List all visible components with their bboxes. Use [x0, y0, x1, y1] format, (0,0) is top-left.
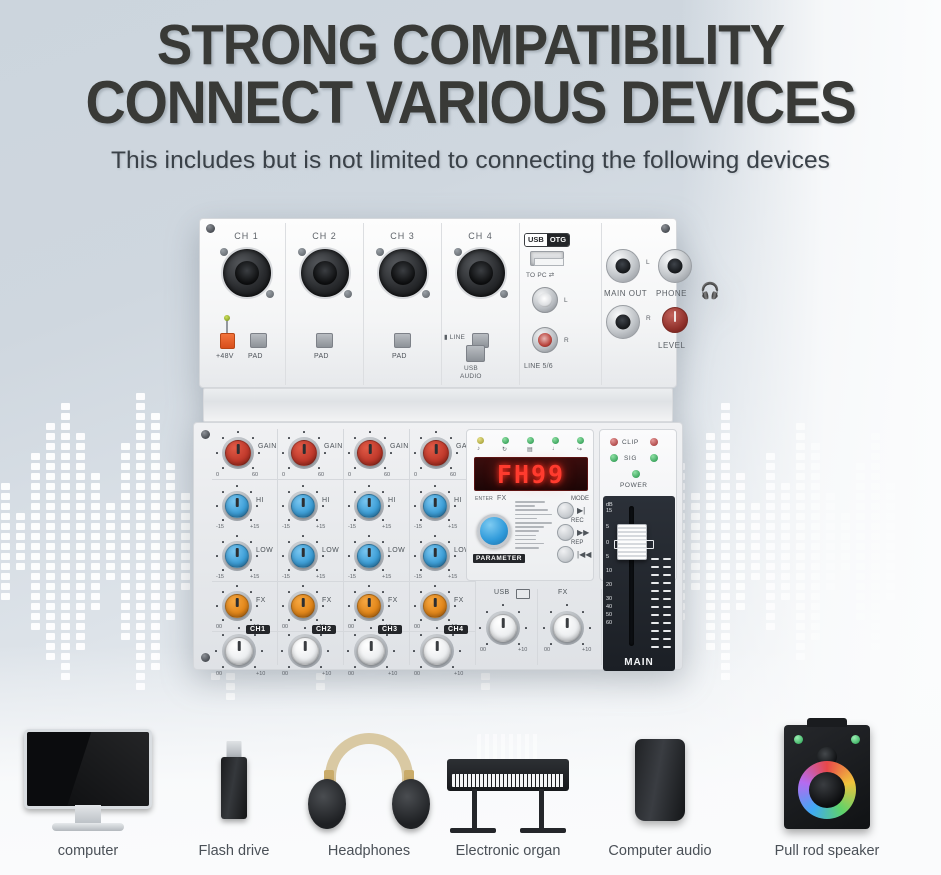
pa-speaker-woofer	[809, 772, 845, 808]
equalizer-dot	[121, 503, 130, 510]
level-knob-ch1[interactable]	[225, 637, 253, 665]
equalizer-dot	[121, 473, 130, 480]
equalizer-dot	[151, 413, 160, 420]
knob-scale-dot	[459, 650, 461, 652]
equalizer-dot	[136, 493, 145, 500]
equalizer-dot	[46, 563, 55, 570]
db-tick-label: 30	[606, 596, 612, 602]
knob-scale-dot	[566, 604, 568, 606]
meter-segment	[651, 558, 659, 560]
input-channel-2: CH 2PAD	[286, 223, 364, 385]
knob-scale-dot	[382, 519, 384, 521]
knob-scale-dot	[502, 604, 504, 606]
channel-label: CH 2	[286, 231, 363, 241]
knob-scale-dot	[420, 541, 422, 543]
knob-scale-dot	[222, 491, 224, 493]
channel-tag-1: CH1	[246, 625, 270, 634]
knob-scale-dot	[420, 634, 422, 636]
equalizer-dot	[121, 463, 130, 470]
knob-scale-dot	[216, 555, 218, 557]
mixer-channel-strip-2: GAIN060HI-15+15LOW-15+15FX00+10CH200+10	[278, 429, 344, 665]
stand-foot-left	[450, 828, 496, 833]
mode-indicator-icon-2: ↻	[502, 446, 507, 453]
equalizer-dot	[61, 513, 70, 520]
fx-knob-label: FX	[558, 589, 568, 596]
knob-scale-dot	[448, 519, 450, 521]
knob-scale-dot	[382, 491, 384, 493]
knob-scale-dot	[420, 467, 422, 469]
equalizer-dot	[136, 613, 145, 620]
hi-label: HI	[454, 497, 462, 504]
usb-knob[interactable]	[489, 614, 517, 642]
phone-level-knob[interactable]	[662, 307, 688, 333]
equalizer-dot	[106, 523, 115, 530]
audio-mixer-product-image: CH 1+48VPADCH 2PADCH 3PADCH 4PAD USBOTGT…	[193, 210, 683, 685]
db-tick-label: 15	[606, 508, 612, 514]
keyboard-keys	[452, 774, 564, 787]
equalizer-dot	[166, 473, 175, 480]
mode-indicator-led-2	[502, 437, 509, 444]
knob-scale-dot	[384, 437, 386, 439]
equalizer-dot	[31, 603, 40, 610]
knob-scale-dot	[486, 643, 488, 645]
knob-max-label: 60	[450, 472, 456, 478]
equalizer-dot	[61, 553, 70, 560]
equalizer-dot	[46, 533, 55, 540]
phone-jack[interactable]	[658, 249, 692, 283]
equalizer-dot	[1, 483, 10, 490]
equalizer-dot	[61, 493, 70, 500]
jack-lug	[500, 290, 508, 298]
device-item-computer-audio: Computer audio	[578, 723, 742, 875]
gain-knob-ch1[interactable]	[225, 440, 251, 466]
mode-indicator-icon-1: ♪	[477, 446, 480, 452]
equalizer-dot	[151, 613, 160, 620]
knob-scale-dot	[550, 643, 552, 645]
equalizer-dot	[136, 533, 145, 540]
level-max-label: +10	[454, 671, 463, 677]
computer-icon	[516, 589, 530, 599]
hi-knob-ch1[interactable]	[225, 494, 249, 518]
equalizer-dot	[136, 563, 145, 570]
transport-button-rec[interactable]	[557, 524, 574, 541]
knob-min-label: 00	[216, 624, 222, 630]
equalizer-dot	[151, 523, 160, 530]
parameter-knob[interactable]	[477, 514, 511, 548]
equalizer-dot	[136, 453, 145, 460]
transport-label-rep: REP	[571, 540, 583, 546]
hi-knob-ch2[interactable]	[291, 494, 315, 518]
knob-scale-dot	[250, 619, 252, 621]
equalizer-dot	[76, 443, 85, 450]
equalizer-dot	[16, 553, 25, 560]
level-min-label: 00	[216, 671, 222, 677]
equalizer-dot	[61, 633, 70, 640]
knob-max-label: +10	[582, 647, 591, 653]
rca-jack-left[interactable]	[532, 287, 558, 313]
equalizer-dot	[151, 483, 160, 490]
section-divider	[278, 581, 344, 582]
rca-channel-label: R	[564, 337, 569, 344]
equalizer-dot	[151, 493, 160, 500]
device-item-computer: computer	[8, 723, 168, 875]
phantom-power-switch[interactable]	[220, 333, 235, 349]
equalizer-dot	[76, 563, 85, 570]
equalizer-dot	[31, 583, 40, 590]
equalizer-dot	[1, 543, 10, 550]
knob-scale-dot	[254, 634, 256, 636]
knob-scale-dot	[436, 627, 438, 629]
meter-segment	[663, 614, 671, 616]
equalizer-dot	[61, 523, 70, 530]
equalizer-dot	[61, 413, 70, 420]
equalizer-dot	[151, 553, 160, 560]
main-fader-well: dB15505102030405060 MAIN	[603, 496, 675, 671]
knob-scale-dot	[250, 491, 252, 493]
knob-scale-dot	[414, 605, 416, 607]
equalizer-dot	[61, 473, 70, 480]
equalizer-dot	[91, 513, 100, 520]
gain-label: GAIN	[258, 443, 277, 450]
low-knob-ch3[interactable]	[357, 544, 381, 568]
knob-scale-dot	[388, 605, 390, 607]
usb-knob-label: USB	[494, 589, 510, 596]
equalizer-dot	[151, 513, 160, 520]
knob-scale-dot	[354, 666, 356, 668]
knob-scale-dot	[288, 541, 290, 543]
equalizer-dot	[166, 593, 175, 600]
equalizer-dot	[106, 543, 115, 550]
equalizer-dot	[136, 433, 145, 440]
knob-scale-dot	[316, 541, 318, 543]
equalizer-dot	[61, 433, 70, 440]
pa-speaker-handle	[807, 718, 847, 727]
knob-scale-dot	[316, 569, 318, 571]
equalizer-dot	[136, 423, 145, 430]
usb-drive-icon	[168, 723, 300, 843]
input-channel-3: CH 3PAD	[364, 223, 442, 385]
equalizer-dot	[151, 603, 160, 610]
knob-scale-dot	[348, 505, 350, 507]
equalizer-dot	[46, 433, 55, 440]
equalizer-dot	[1, 593, 10, 600]
equalizer-dot	[136, 593, 145, 600]
device-label: Flash drive	[168, 843, 300, 875]
equalizer-dot	[76, 593, 85, 600]
meter-segment	[663, 622, 671, 624]
knob-scale-dot	[368, 485, 370, 487]
equalizer-dot	[136, 623, 145, 630]
knob-scale-dot	[348, 555, 350, 557]
level-min-label: 00	[348, 671, 354, 677]
equalizer-dot	[46, 543, 55, 550]
fx-preset-entry	[515, 547, 539, 549]
gain-label: GAIN	[390, 443, 409, 450]
low-label: LOW	[388, 547, 405, 554]
gain-knob-ch2[interactable]	[291, 440, 317, 466]
equalizer-dot	[16, 543, 25, 550]
knob-max-label: +15	[316, 574, 325, 580]
meter-segment	[663, 566, 671, 568]
knob-min-label: -15	[216, 524, 224, 530]
mixer-control-panel: GAIN060HI-15+15LOW-15+15FX00+10CH100+10G…	[193, 422, 683, 670]
db-tick-label: 5	[606, 524, 609, 530]
equalizer-dot	[136, 633, 145, 640]
knob-min-label: 00	[348, 624, 354, 630]
pad-button[interactable]	[394, 333, 411, 348]
equalizer-dot	[181, 573, 190, 580]
device-label: Computer audio	[578, 843, 742, 875]
headphones-icon	[300, 723, 438, 843]
equalizer-dot	[106, 513, 115, 520]
equalizer-dot	[121, 553, 130, 560]
knob-scale-dot	[448, 569, 450, 571]
equalizer-dot	[121, 523, 130, 530]
keyboard-music-rack	[477, 734, 539, 760]
equalizer-dot	[1, 533, 10, 540]
meter-segment	[651, 574, 659, 576]
device-item-electronic-organ: Electronic organ	[438, 723, 578, 875]
knob-scale-dot	[354, 467, 356, 469]
equalizer-dot	[31, 493, 40, 500]
knob-scale-dot	[382, 569, 384, 571]
transport-label-mode: MODE	[571, 496, 589, 502]
knob-scale-dot	[222, 591, 224, 593]
main-out-jack-right[interactable]	[606, 305, 640, 339]
equalizer-dot	[136, 403, 145, 410]
usb-a-port[interactable]	[530, 251, 564, 266]
clip-led-left	[610, 438, 618, 446]
pad-label: PAD	[392, 353, 407, 360]
meter-segment	[651, 638, 659, 640]
mode-indicator-led-3	[527, 437, 534, 444]
equalizer-dot	[151, 453, 160, 460]
usb-drive-body	[221, 757, 247, 819]
gain-knob-ch3[interactable]	[357, 440, 383, 466]
equalizer-dot	[136, 523, 145, 530]
meter-segment	[663, 582, 671, 584]
knob-scale-dot	[304, 627, 306, 629]
equalizer-dot	[61, 543, 70, 550]
db-tick-label: 40	[606, 604, 612, 610]
equalizer-dot	[166, 603, 175, 610]
equalizer-dot	[46, 583, 55, 590]
equalizer-dot	[61, 483, 70, 490]
equalizer-dot	[136, 473, 145, 480]
equalizer-dot	[121, 453, 130, 460]
equalizer-dot	[61, 583, 70, 590]
equalizer-dot	[181, 543, 190, 550]
main-fader-handle[interactable]	[617, 524, 647, 560]
equalizer-dot	[166, 533, 175, 540]
pa-speaker-icon	[742, 723, 912, 843]
fx-display-module: ♪↻▤♩↪ FH99 ENTER FX PARAMETER MODE▶|REC▶…	[466, 429, 594, 581]
usb-audio-button[interactable]	[466, 345, 485, 362]
equalizer-dot	[136, 463, 145, 470]
db-tick-label: 20	[606, 582, 612, 588]
knob-scale-dot	[420, 437, 422, 439]
screw	[201, 653, 210, 662]
equalizer-dot	[166, 583, 175, 590]
equalizer-dot	[1, 573, 10, 580]
knob-scale-dot	[452, 634, 454, 636]
equalizer-dot	[181, 503, 190, 510]
gain-knob-ch4[interactable]	[423, 440, 449, 466]
db-tick-label: 60	[606, 620, 612, 626]
knob-scale-dot	[250, 569, 252, 571]
knob-scale-dot	[252, 437, 254, 439]
rca-center-pin	[538, 333, 552, 347]
pad-button[interactable]	[250, 333, 267, 348]
transport-icon-rep: |◀◀	[577, 550, 591, 559]
device-label: Pull rod speaker	[742, 843, 912, 875]
equalizer-dot	[151, 563, 160, 570]
level-knob-ch4[interactable]	[423, 637, 451, 665]
jack-lug	[422, 290, 430, 298]
xlr-combo-jack[interactable]	[299, 247, 351, 299]
xlr-combo-jack[interactable]	[455, 247, 507, 299]
fx-knob-ch1[interactable]	[225, 594, 249, 618]
knob-scale-dot	[288, 634, 290, 636]
knob-scale-dot	[222, 467, 224, 469]
equalizer-dot	[46, 623, 55, 630]
fx-label: FX	[256, 597, 266, 604]
low-knob-ch2[interactable]	[291, 544, 315, 568]
monitor-neck	[75, 805, 101, 825]
mode-indicator-icon-5: ↪	[577, 446, 582, 453]
level-knob-ch2[interactable]	[291, 637, 319, 665]
knob-scale-dot	[282, 555, 284, 557]
level-min-label: 00	[414, 671, 420, 677]
equalizer-dot	[16, 563, 25, 570]
gain-label: GAIN	[324, 443, 343, 450]
knob-scale-dot	[222, 619, 224, 621]
fx-preset-entry	[515, 535, 536, 537]
equalizer-dot	[31, 593, 40, 600]
equalizer-dot	[136, 603, 145, 610]
equalizer-dot	[76, 623, 85, 630]
equalizer-dot	[76, 513, 85, 520]
fx-knob-ch3[interactable]	[357, 594, 381, 618]
meter-segment	[663, 574, 671, 576]
fx-label: FX	[497, 495, 506, 502]
knob-scale-dot	[288, 491, 290, 493]
knob-scale-dot	[324, 452, 326, 454]
knob-scale-dot	[582, 611, 584, 613]
power-led	[632, 470, 640, 478]
knob-scale-dot	[550, 611, 552, 613]
equalizer-dot	[46, 573, 55, 580]
knob-scale-dot	[288, 591, 290, 593]
equalizer-dot	[61, 453, 70, 460]
knob-min-label: 00	[414, 624, 420, 630]
knob-scale-dot	[420, 569, 422, 571]
sig-label: SIG	[624, 455, 637, 462]
meter-segment	[663, 630, 671, 632]
knob-min-label: -15	[348, 574, 356, 580]
equalizer-dot	[31, 623, 40, 630]
equalizer-dot	[91, 523, 100, 530]
equalizer-dot	[31, 463, 40, 470]
equalizer-dot	[76, 453, 85, 460]
clip-led-right	[650, 438, 658, 446]
headphone-icon: 🎧	[700, 281, 720, 301]
equalizer-dot	[151, 463, 160, 470]
equalizer-dot	[31, 563, 40, 570]
knob-scale-dot	[348, 452, 350, 454]
knob-scale-dot	[582, 643, 584, 645]
equalizer-dot	[61, 443, 70, 450]
fx-label: FX	[388, 597, 398, 604]
fx-knob-ch2[interactable]	[291, 594, 315, 618]
equalizer-dot	[166, 493, 175, 500]
sig-led-left	[610, 454, 618, 462]
equalizer-dot	[46, 483, 55, 490]
db-tick-label: 5	[606, 554, 609, 560]
knob-scale-dot	[518, 611, 520, 613]
knob-scale-dot	[237, 431, 239, 433]
xlr-combo-jack[interactable]	[377, 247, 429, 299]
level-knob-ch3[interactable]	[357, 637, 385, 665]
equalizer-dot	[136, 553, 145, 560]
mode-indicator-icon-3: ▤	[527, 446, 533, 453]
hi-knob-ch4[interactable]	[423, 494, 447, 518]
knob-scale-dot	[420, 591, 422, 593]
knob-max-label: 60	[318, 472, 324, 478]
knob-scale-dot	[236, 585, 238, 587]
equalizer-dot	[46, 493, 55, 500]
transport-button-mode[interactable]	[557, 502, 574, 519]
knob-scale-dot	[256, 555, 258, 557]
equalizer-dot	[91, 503, 100, 510]
knob-max-label: +15	[382, 524, 391, 530]
fx-knob[interactable]	[553, 614, 581, 642]
knob-scale-dot	[288, 519, 290, 521]
knob-scale-dot	[250, 519, 252, 521]
knob-scale-dot	[414, 452, 416, 454]
equalizer-dot	[181, 553, 190, 560]
fx-knob-ch4[interactable]	[423, 594, 447, 618]
equalizer-dot	[76, 433, 85, 440]
hi-knob-ch3[interactable]	[357, 494, 381, 518]
low-knob-ch4[interactable]	[423, 544, 447, 568]
phantom-power-led	[224, 315, 230, 321]
rca-jack-right[interactable]	[532, 327, 558, 353]
extra-knob-strip-fx: FX00+10	[540, 589, 602, 665]
transport-button-rep[interactable]	[557, 546, 574, 563]
knob-scale-dot	[420, 619, 422, 621]
xlr-combo-jack[interactable]	[221, 247, 273, 299]
pad-button[interactable]	[316, 333, 333, 348]
device-item-headphones: Headphones	[300, 723, 438, 875]
equalizer-dot	[136, 583, 145, 590]
equalizer-dot	[151, 433, 160, 440]
knob-max-label: 60	[252, 472, 258, 478]
knob-scale-dot	[518, 643, 520, 645]
db-tick-label: 50	[606, 612, 612, 618]
transport-icon-mode: ▶|	[577, 506, 585, 515]
level-max-label: +10	[256, 671, 265, 677]
equalizer-dot	[166, 513, 175, 520]
knob-scale-dot	[368, 585, 370, 587]
low-knob-ch1[interactable]	[225, 544, 249, 568]
main-out-jack-left[interactable]	[606, 249, 640, 283]
meter-segment	[663, 638, 671, 640]
equalizer-dot	[76, 613, 85, 620]
equalizer-dot	[151, 573, 160, 580]
equalizer-dot	[91, 493, 100, 500]
meter-segment	[651, 582, 659, 584]
